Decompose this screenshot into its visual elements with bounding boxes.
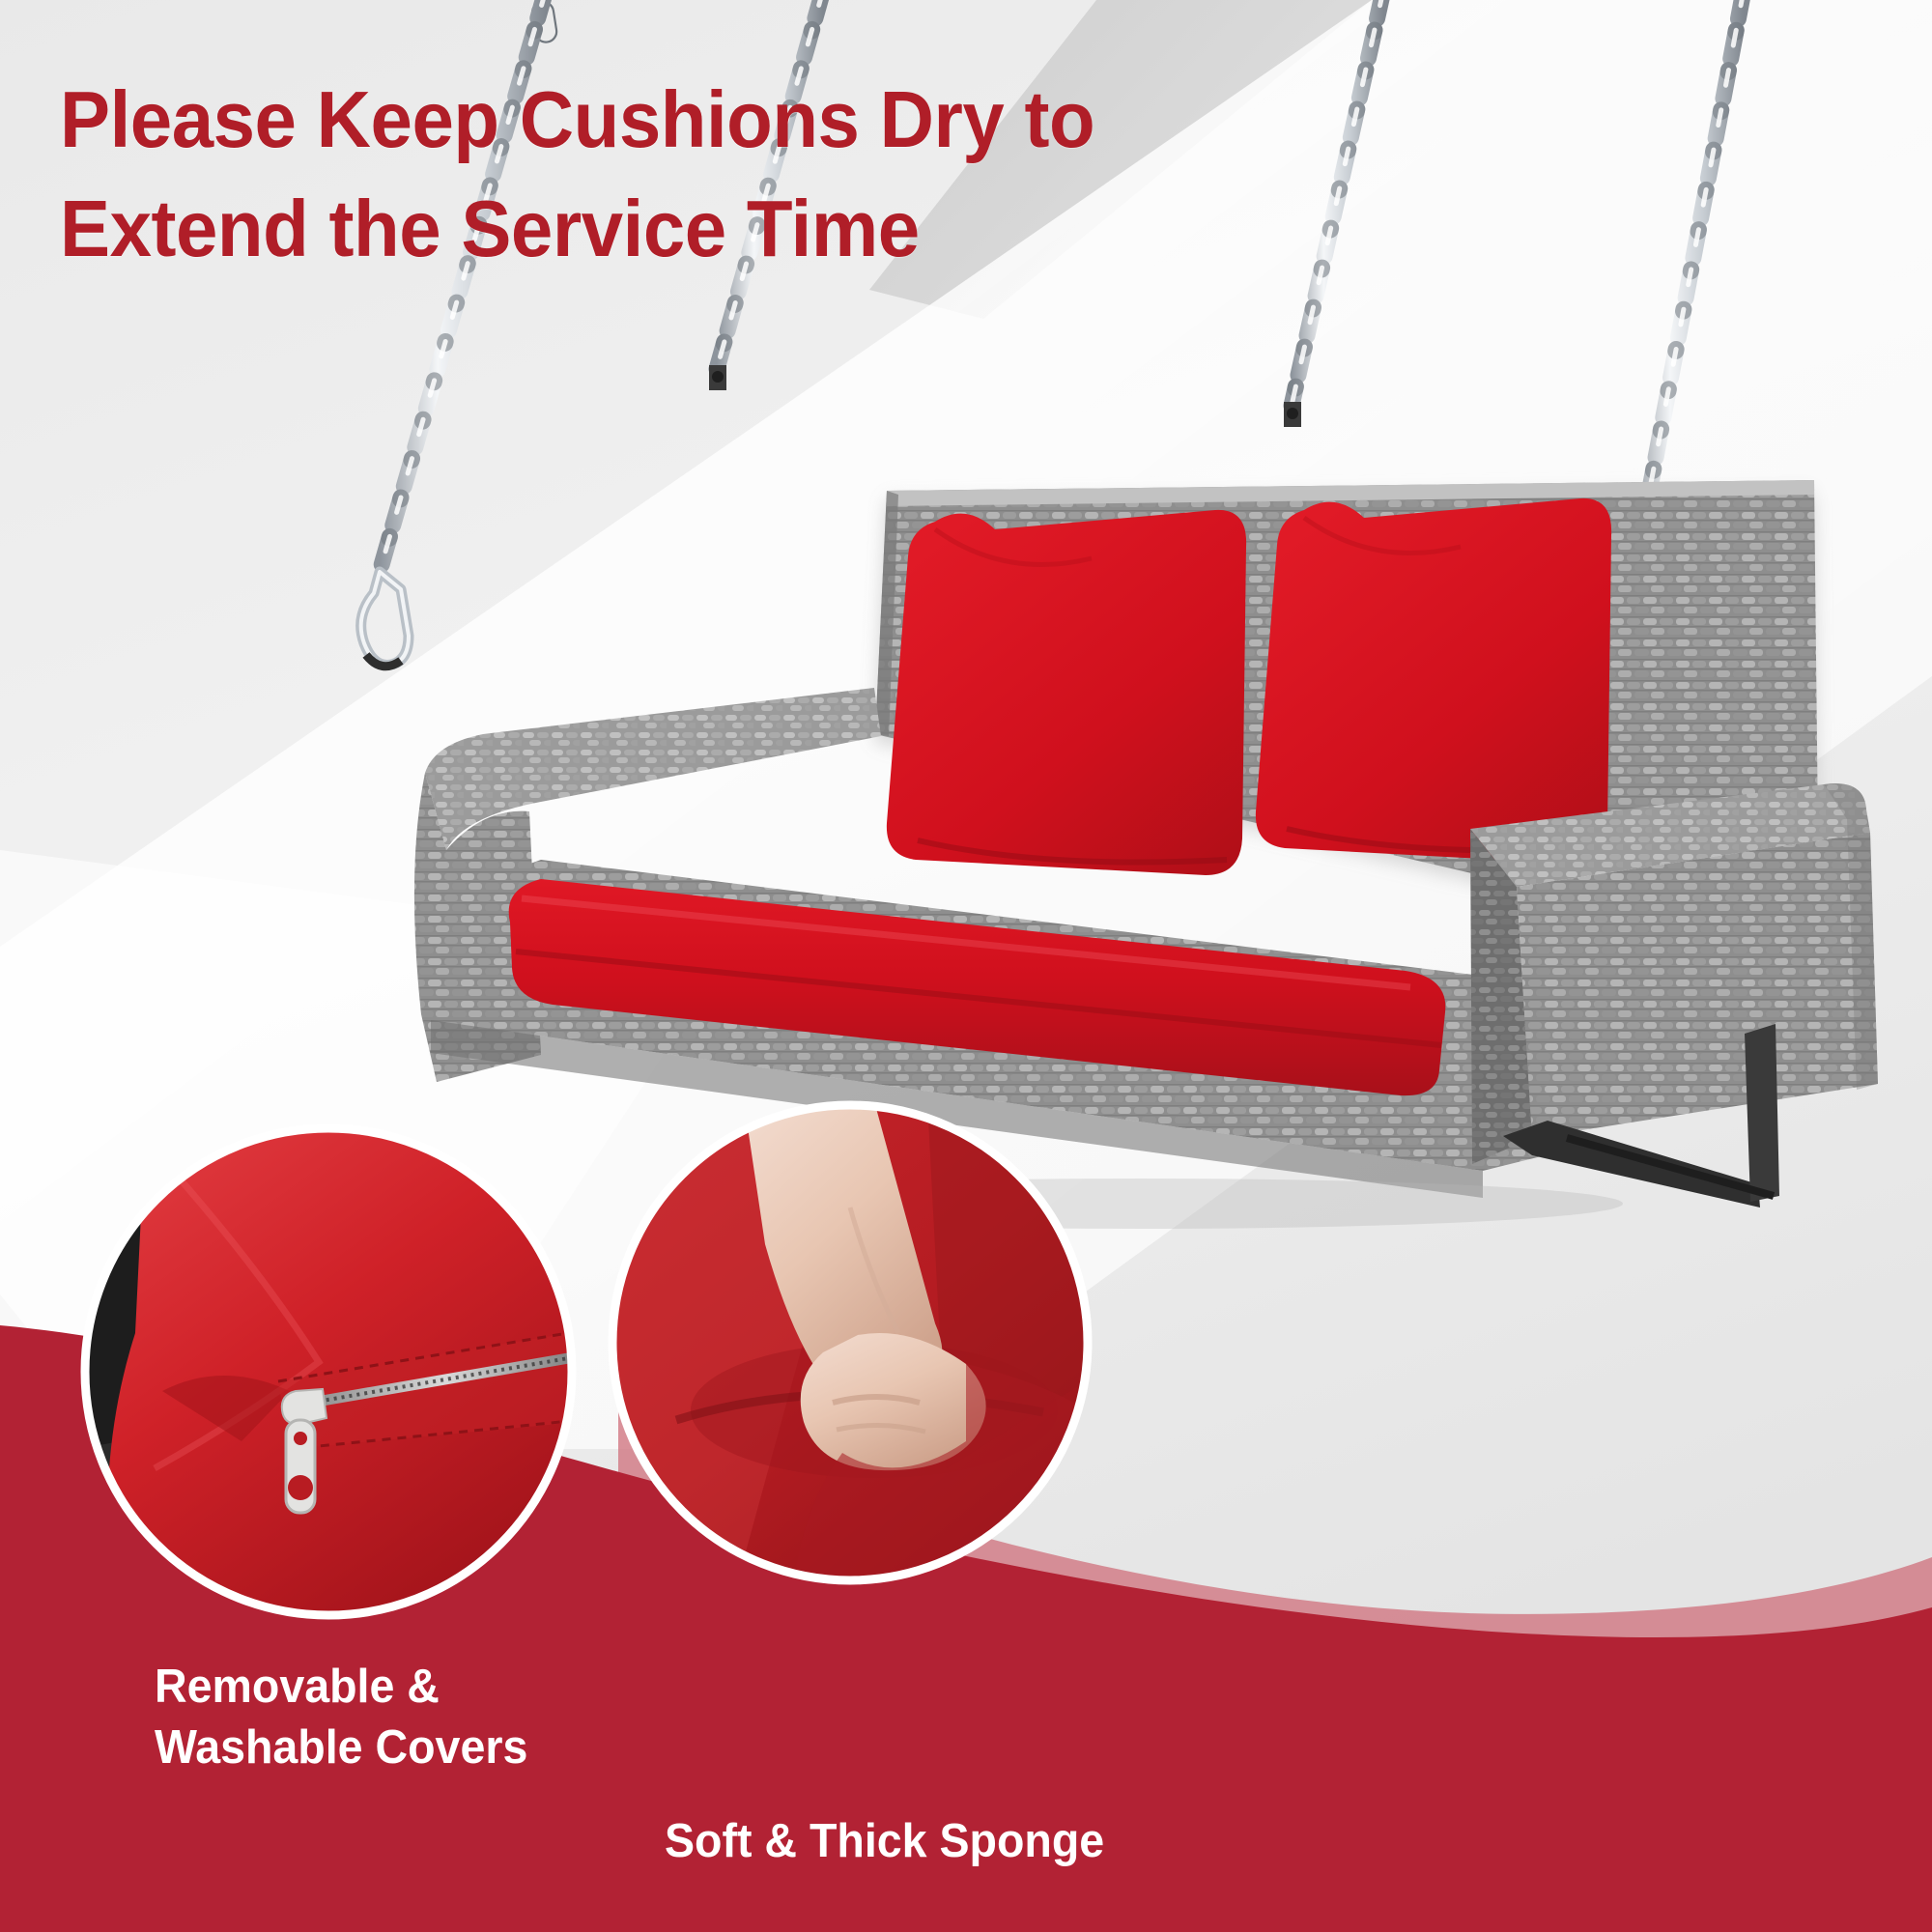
callout-soft-thick-sponge [609,1101,1101,1594]
callout-removable-washable-covers [77,1121,580,1633]
callout-layer [0,0,1932,1932]
poster-canvas: Please Keep Cushions Dry to Extend the S… [0,0,1932,1932]
